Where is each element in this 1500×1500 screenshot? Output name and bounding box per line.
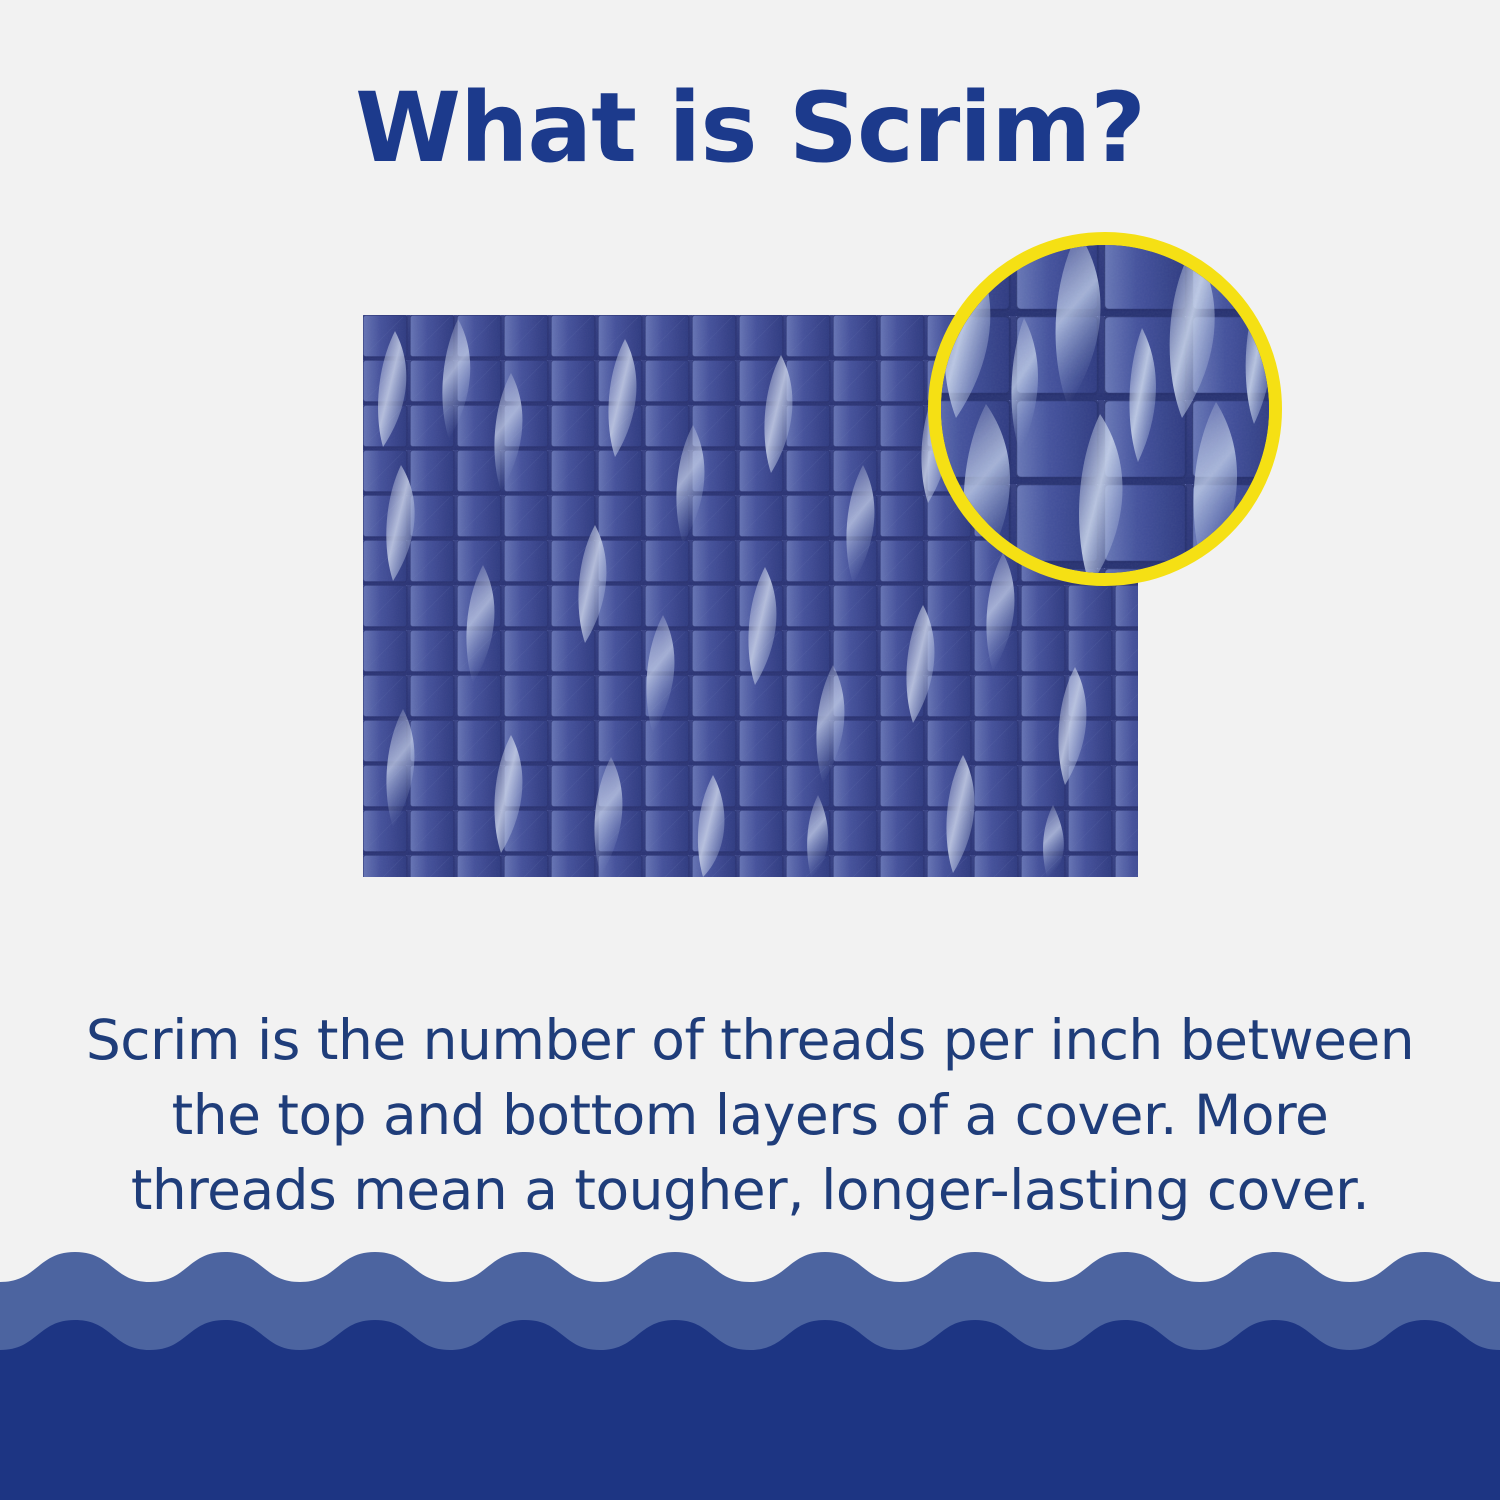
magnifier-circle (928, 232, 1282, 586)
wave-footer-graphic (0, 1230, 1500, 1500)
description-paragraph: Scrim is the number of threads per inch … (75, 1003, 1425, 1228)
magnified-fabric-detail (928, 232, 1282, 586)
page-title: What is Scrim? (0, 72, 1500, 184)
poster-canvas: What is Scrim? (0, 0, 1500, 1500)
wave-footer (0, 1230, 1500, 1500)
magnified-weave-graphic (928, 232, 1282, 586)
